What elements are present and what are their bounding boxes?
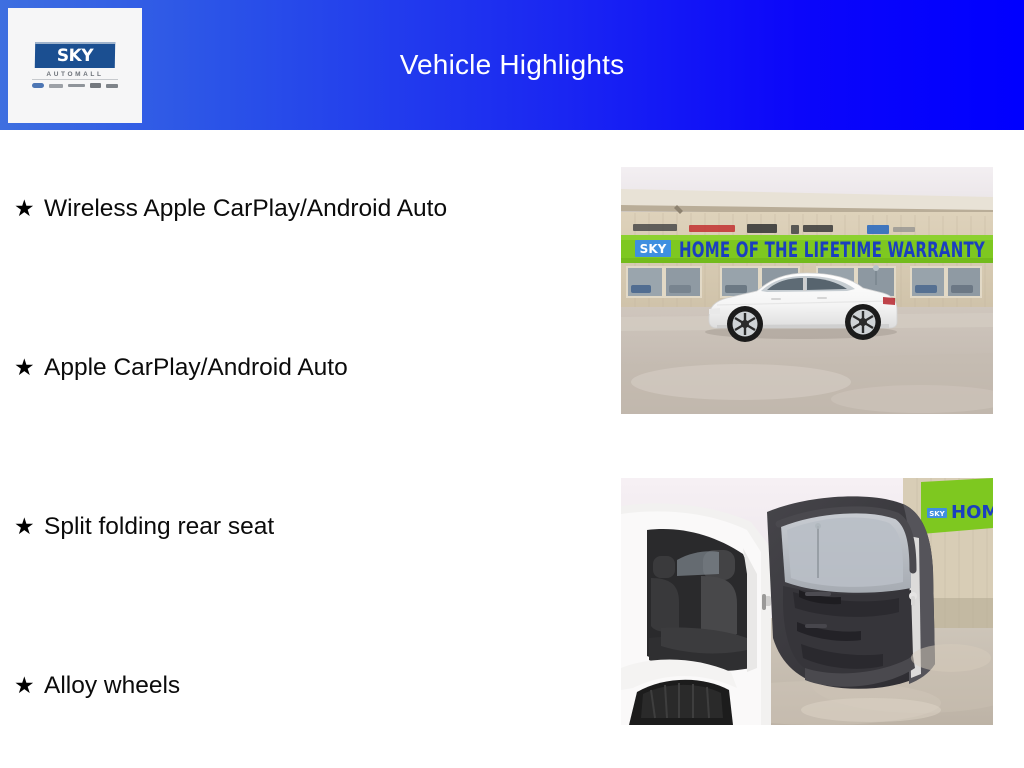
star-bullet-icon: ★ [14, 357, 44, 380]
slide-header-band: Vehicle Highlights [0, 0, 1024, 130]
highlight-label: Wireless Apple CarPlay/Android Auto [44, 196, 447, 223]
list-item: ★ Split folding rear seat [14, 514, 274, 541]
highlight-label: Apple CarPlay/Android Auto [44, 355, 348, 382]
open-rear-door [767, 496, 935, 688]
list-item: ★ Alloy wheels [14, 673, 180, 700]
highlight-label: Alloy wheels [44, 673, 180, 700]
rear-door-interior-photo[interactable]: SKY HOM [621, 478, 993, 725]
svg-text:HOME OF THE LIFETIME WARRANTY: HOME OF THE LIFETIME WARRANTY [679, 238, 985, 262]
dodge-brand-icon [68, 84, 85, 87]
jeep-brand-icon [90, 83, 101, 88]
rear-door-interior-image: SKY HOM [621, 478, 993, 725]
sky-automall-logo[interactable]: SKY AUTOMALL [8, 8, 142, 123]
svg-text:SKY: SKY [640, 242, 667, 256]
ford-brand-icon [32, 83, 44, 88]
logo-divider [32, 79, 118, 80]
chrysler-brand-icon [49, 84, 63, 88]
svg-text:HOM: HOM [951, 502, 993, 523]
svg-text:SKY: SKY [929, 510, 945, 518]
sky-badge-text: SKY [57, 48, 94, 65]
list-item: ★ Apple CarPlay/Android Auto [14, 355, 348, 382]
vehicle-highlights-list: ★ Wireless Apple CarPlay/Android Auto ★ … [0, 130, 610, 768]
page-title: Vehicle Highlights [0, 0, 1024, 130]
automall-text: AUTOMALL [46, 71, 103, 78]
list-item: ★ Wireless Apple CarPlay/Android Auto [14, 196, 447, 223]
ram-brand-icon [106, 84, 118, 88]
highlight-label: Split folding rear seat [44, 514, 274, 541]
star-bullet-icon: ★ [14, 198, 44, 221]
oem-brand-strip [32, 82, 118, 89]
logo-inner: SKY AUTOMALL [27, 42, 123, 89]
star-bullet-icon: ★ [14, 516, 44, 539]
dealership-exterior-photo[interactable]: SKY HOME OF THE LIFETIME WARRANTY [621, 167, 993, 414]
dealership-exterior-image: SKY HOME OF THE LIFETIME WARRANTY [621, 167, 993, 414]
star-bullet-icon: ★ [14, 675, 44, 698]
sky-badge: SKY [35, 42, 115, 68]
